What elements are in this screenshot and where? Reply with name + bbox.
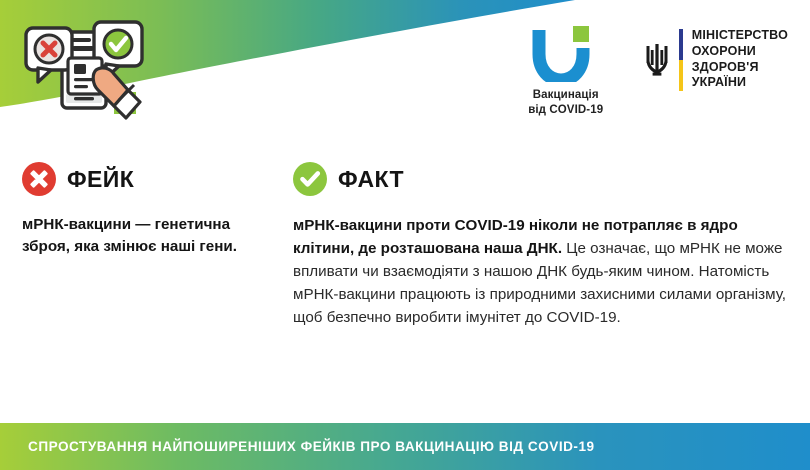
ukraine-flag-divider xyxy=(679,29,683,91)
ministry-name-lines: МІНІСТЕРСТВО ОХОРОНИ ЗДОРОВ'Я УКРАЇНИ xyxy=(692,28,788,91)
cross-circle-icon xyxy=(22,162,56,196)
check-circle-icon xyxy=(293,162,327,196)
ministry-line-4: УКРАЇНИ xyxy=(692,75,788,91)
vaccination-logo-caption: Вакцинація від COVID-19 xyxy=(528,88,603,117)
vaccination-caption-line2: від COVID-19 xyxy=(528,103,603,118)
ministry-line-2: ОХОРОНИ xyxy=(692,44,788,60)
fake-body-text: мРНК-вакцини — генетична зброя, яка змін… xyxy=(22,214,272,258)
ministry-of-health-logo: МІНІСТЕРСТВО ОХОРОНИ ЗДОРОВ'Я УКРАЇНИ xyxy=(644,26,788,91)
vaccination-caption-line1: Вакцинація xyxy=(528,88,603,103)
footer-bar: СПРОСТУВАННЯ НАЙПОШИРЕНІШИХ ФЕЙКІВ ПРО В… xyxy=(0,423,810,470)
ukraine-trident-emblem xyxy=(644,42,670,78)
fake-column: ФЕЙК мРНК-вакцини — генетична зброя, яка… xyxy=(22,160,272,258)
poster-canvas: Вакцинація від COVID-19 xyxy=(0,0,810,470)
fake-label: ФЕЙК xyxy=(67,166,134,193)
ministry-line-1: МІНІСТЕРСТВО xyxy=(692,28,788,44)
vaccination-logo: Вакцинація від COVID-19 xyxy=(514,26,618,117)
fact-column: ФАКТ мРНК-вакцини проти COVID-19 ніколи … xyxy=(293,160,788,329)
vaccination-v-logo xyxy=(529,26,603,82)
fact-label: ФАКТ xyxy=(338,166,404,193)
fact-heading: ФАКТ xyxy=(293,160,788,198)
footer-caption: СПРОСТУВАННЯ НАЙПОШИРЕНІШИХ ФЕЙКІВ ПРО В… xyxy=(28,439,595,454)
logo-row: Вакцинація від COVID-19 xyxy=(514,26,788,117)
fake-vs-fact-illustration xyxy=(18,14,158,126)
ministry-line-3: ЗДОРОВ'Я xyxy=(692,60,788,76)
fake-heading: ФЕЙК xyxy=(22,160,272,198)
fact-body-text: мРНК-вакцини проти COVID-19 ніколи не по… xyxy=(293,214,788,329)
